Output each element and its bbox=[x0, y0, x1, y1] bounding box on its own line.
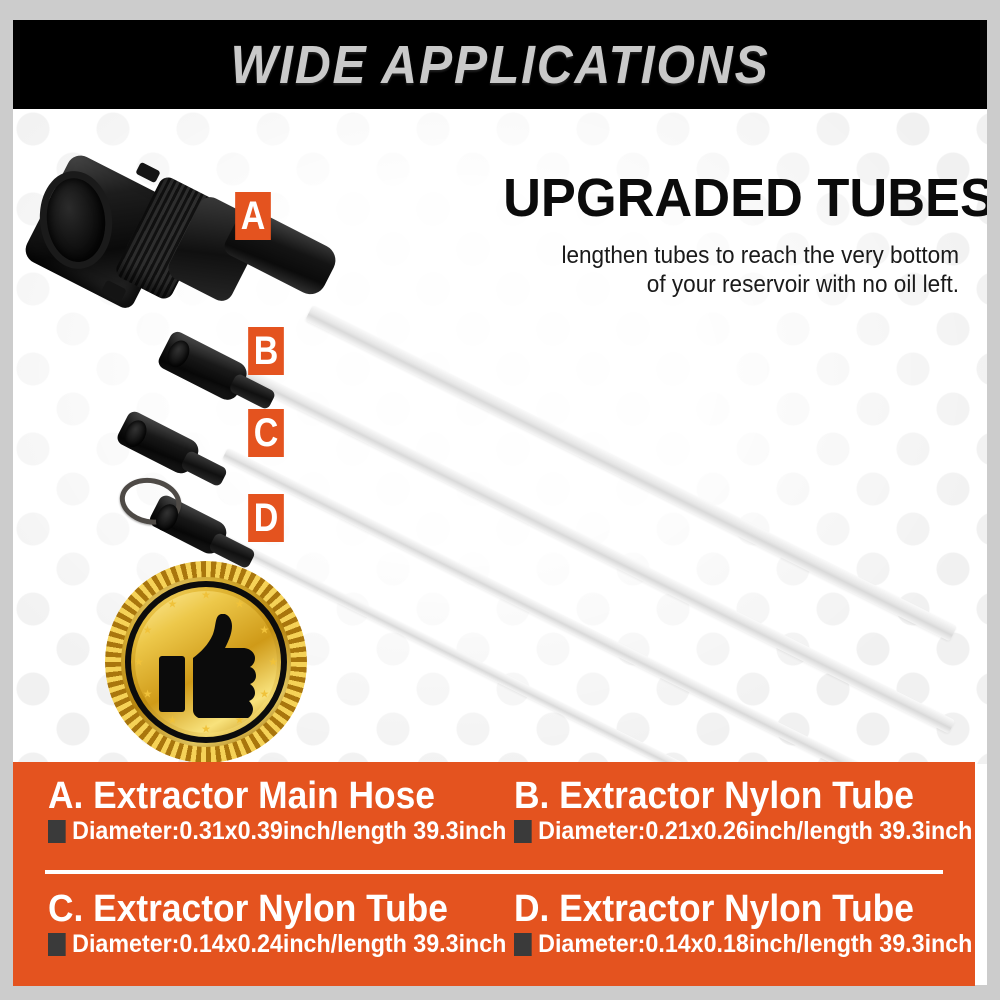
seal-star-icon: ★ bbox=[235, 597, 245, 610]
bullet-square-icon bbox=[48, 820, 66, 843]
header-banner: WIDE APPLICATIONS bbox=[13, 20, 987, 109]
spec-detail-a: Diameter:0.31x0.39inch/length 39.3inch bbox=[48, 819, 463, 844]
connector-b-bore bbox=[163, 337, 194, 371]
spec-title-d: D. Extractor Nylon Tube bbox=[514, 889, 943, 929]
spec-cell-d: D. Extractor Nylon Tube Diameter:0.14x0.… bbox=[494, 875, 975, 986]
page-subtitle-line1: lengthen tubes to reach the very bottom bbox=[517, 241, 959, 270]
page-subtitle: lengthen tubes to reach the very bottom … bbox=[517, 241, 959, 300]
bullet-square-icon bbox=[514, 933, 532, 956]
seal-star-icon: ★ bbox=[167, 597, 177, 610]
hose-tab-top bbox=[135, 162, 161, 184]
spec-detail-c: Diameter:0.14x0.24inch/length 39.3inch bbox=[48, 932, 463, 957]
spec-title-a: A. Extractor Main Hose bbox=[48, 776, 463, 816]
heading-block: UPGRADED TUBES lengthen tubes to reach t… bbox=[489, 171, 959, 300]
specifications-panel: A. Extractor Main Hose Diameter:0.31x0.3… bbox=[13, 762, 975, 986]
bullet-square-icon bbox=[48, 933, 66, 956]
spec-detail-d-text: Diameter:0.14x0.18inch/length 39.3inch bbox=[538, 932, 972, 957]
specs-row-top: A. Extractor Main Hose Diameter:0.31x0.3… bbox=[13, 762, 975, 873]
spec-detail-a-text: Diameter:0.31x0.39inch/length 39.3inch bbox=[72, 819, 506, 844]
thumbs-up-icon bbox=[152, 614, 260, 718]
callout-badge-b-letter: B bbox=[254, 331, 279, 371]
callout-badge-b: B bbox=[248, 327, 284, 375]
page-title: UPGRADED TUBES bbox=[503, 171, 959, 225]
specs-row-bottom: C. Extractor Nylon Tube Diameter:0.14x0.… bbox=[13, 875, 975, 986]
banner-title: WIDE APPLICATIONS bbox=[230, 34, 769, 96]
seal-star-icon: ★ bbox=[134, 656, 144, 669]
seal-star-icon: ★ bbox=[259, 623, 269, 636]
bullet-square-icon bbox=[514, 820, 532, 843]
spec-detail-c-text: Diameter:0.14x0.24inch/length 39.3inch bbox=[72, 932, 506, 957]
callout-badge-a: A bbox=[235, 192, 271, 240]
spec-cell-c: C. Extractor Nylon Tube Diameter:0.14x0.… bbox=[13, 875, 494, 986]
callout-badge-a-letter: A bbox=[241, 196, 266, 236]
product-photo-area: A B C D UPGRADED TUBES lengthen tubes to… bbox=[13, 109, 987, 764]
callout-badge-c: C bbox=[248, 409, 284, 457]
connector-c-bore bbox=[120, 417, 151, 451]
spec-detail-d: Diameter:0.14x0.18inch/length 39.3inch bbox=[514, 932, 943, 957]
callout-badge-c-letter: C bbox=[254, 413, 279, 453]
seal-star-icon: ★ bbox=[201, 588, 211, 601]
spec-detail-b-text: Diameter:0.21x0.26inch/length 39.3inch bbox=[538, 819, 972, 844]
spec-title-c: C. Extractor Nylon Tube bbox=[48, 889, 463, 929]
page-subtitle-line2: of your reservoir with no oil left. bbox=[517, 270, 959, 299]
spec-cell-a: A. Extractor Main Hose Diameter:0.31x0.3… bbox=[13, 762, 494, 873]
seal-star-icon: ★ bbox=[268, 656, 278, 669]
specs-divider bbox=[45, 870, 943, 874]
seal-star-icon: ★ bbox=[201, 723, 211, 736]
spec-cell-b: B. Extractor Nylon Tube Diameter:0.21x0.… bbox=[494, 762, 975, 873]
callout-badge-d-letter: D bbox=[254, 498, 279, 538]
seal-star-icon: ★ bbox=[259, 688, 269, 701]
spec-title-b: B. Extractor Nylon Tube bbox=[514, 776, 943, 816]
spec-detail-b: Diameter:0.21x0.26inch/length 39.3inch bbox=[514, 819, 943, 844]
gold-quality-seal: ★ ★ ★ ★ ★ ★ ★ ★ ★ ★ ★ ★ bbox=[105, 561, 307, 763]
callout-badge-d: D bbox=[248, 494, 284, 542]
extractor-main-hose-part bbox=[31, 164, 341, 324]
infographic-canvas: WIDE APPLICATIONS bbox=[0, 0, 1000, 1000]
